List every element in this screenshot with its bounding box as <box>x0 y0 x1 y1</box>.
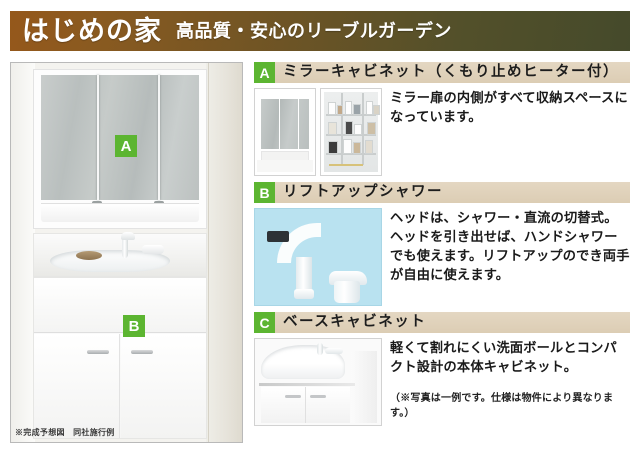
thumb-door-handle <box>285 395 301 398</box>
vanity-counter-graphic <box>33 233 207 277</box>
hero-vanity-photo: A B C ※完成予想図 同社施行例 <box>10 62 243 443</box>
thumb-stored-item <box>343 139 352 154</box>
thumb-mirror-glass <box>261 99 309 149</box>
section-letter-c: C <box>254 312 275 333</box>
shower-head-tip <box>267 231 289 242</box>
section-body-c: 軽くて割れにくい洗面ボールとコンパクト設計の本体キャビネット。 （※写真は一例で… <box>254 333 630 426</box>
hero-caption: ※完成予想図 同社施行例 <box>15 427 115 438</box>
thumb-stored-item <box>365 140 373 154</box>
feature-list: A ミラーキャビネット（くもり止めヒーター付） <box>254 62 630 432</box>
thumbnail-group-c <box>254 338 382 426</box>
base-cabinet-graphic <box>33 277 207 439</box>
thumbnail-lift-up-shower <box>254 208 382 306</box>
page-subtitle: 高品質・安心のリーブルガーデン <box>176 22 452 40</box>
page-title: はじめの家 <box>22 18 162 45</box>
section-letter-a: A <box>254 62 275 83</box>
cabinet-side-panel <box>351 351 377 423</box>
wall-left <box>11 63 35 442</box>
thumb-stored-item <box>328 122 337 135</box>
cabinet-door-right <box>121 334 206 438</box>
faucet-spout <box>122 236 128 258</box>
mixer-body <box>334 281 360 303</box>
header-banner: はじめの家 高品質・安心のリーブルガーデン <box>10 11 630 51</box>
section-letter-b: B <box>254 182 275 203</box>
door-handle <box>131 350 153 354</box>
section-description-c-text: 軽くて割れにくい洗面ボールとコンパクト設計の本体キャビネット。 <box>390 338 630 376</box>
section-header-c: C ベースキャビネット <box>254 312 630 333</box>
cabinet-drawer <box>34 278 206 333</box>
thumb-cabinet-door-left <box>261 387 306 423</box>
thumb-stored-item <box>337 105 343 115</box>
soap-dish <box>76 251 102 260</box>
wall-right <box>206 63 242 442</box>
thumb-mirror-seam <box>279 99 280 149</box>
feature-section-a: A ミラーキャビネット（くもり止めヒーター付） <box>254 62 630 176</box>
feature-section-b: B リフトアップシャワー ヘッドは、シャワー・直流の切替式。ヘッドを引き出せば、… <box>254 182 630 306</box>
mirror-shelf <box>41 203 199 222</box>
section-description-a: ミラー扉の内側がすべて収納スペースになっています。 <box>390 88 630 176</box>
shower-spout-base <box>294 289 314 299</box>
mirror-door-seam <box>97 75 99 200</box>
thumb-stored-item <box>354 124 362 135</box>
section-title-b: リフトアップシャワー <box>283 185 443 200</box>
section-body-b: ヘッドは、シャワー・直流の切替式。ヘッドを引き出せば、ハンドシャワーでも使えます… <box>254 203 630 306</box>
thumb-stored-item <box>373 105 380 115</box>
shower-spout-stem <box>296 257 312 293</box>
section-description-c: 軽くて割れにくい洗面ボールとコンパクト設計の本体キャビネット。 （※写真は一例で… <box>390 338 630 426</box>
section-title-a: ミラーキャビネット（くもり止めヒーター付） <box>283 65 619 80</box>
thumb-counter-edge <box>259 383 355 386</box>
thumb-stored-item <box>328 102 336 115</box>
thumb-door-handle <box>310 395 326 398</box>
door-handle <box>87 350 109 354</box>
section-header-b: B リフトアップシャワー <box>254 182 630 203</box>
footnote-disclaimer: （※写真は一例です。仕様は物件により異なります。） <box>390 392 630 421</box>
thumb-faucet-handle <box>325 348 343 354</box>
thumb-stored-item <box>353 104 361 115</box>
faucet-lever <box>142 245 164 254</box>
section-title-c: ベースキャビネット <box>283 315 426 330</box>
thumbnail-base-cabinet <box>254 338 382 426</box>
thumb-divider <box>341 93 343 165</box>
section-body-a: ミラー扉の内側がすべて収納スペースになっています。 <box>254 83 630 176</box>
thumb-stored-item <box>328 141 338 154</box>
thumbnail-group-a <box>254 88 382 176</box>
hero-badge-a: A <box>115 135 137 157</box>
thumbnail-mirror-closed <box>254 88 316 176</box>
thumb-stored-item <box>367 122 376 135</box>
section-description-b: ヘッドは、シャワー・直流の切替式。ヘッドを引き出せば、ハンドシャワーでも使えます… <box>390 208 630 306</box>
thumb-faucet <box>317 343 323 355</box>
hero-badge-b: B <box>123 315 145 337</box>
mirror-door-seam <box>158 75 160 200</box>
thumb-mirror-seam <box>298 99 299 149</box>
thumbnail-mirror-open <box>320 88 382 176</box>
thumb-cabinet-door-right <box>306 387 350 423</box>
thumb-mirror-base <box>257 160 313 172</box>
feature-section-c: C ベースキャビネット <box>254 312 630 426</box>
thumb-divider <box>362 93 364 165</box>
thumb-stored-item <box>345 101 352 115</box>
section-header-a: A ミラーキャビネット（くもり止めヒーター付） <box>254 62 630 83</box>
cabinet-door-left <box>34 334 120 438</box>
thumb-stored-item <box>345 121 353 135</box>
thumb-stored-item <box>366 101 373 115</box>
thumbnail-group-b <box>254 208 382 306</box>
thumb-stored-item <box>353 142 361 154</box>
thumb-bottom-bar <box>329 164 363 166</box>
